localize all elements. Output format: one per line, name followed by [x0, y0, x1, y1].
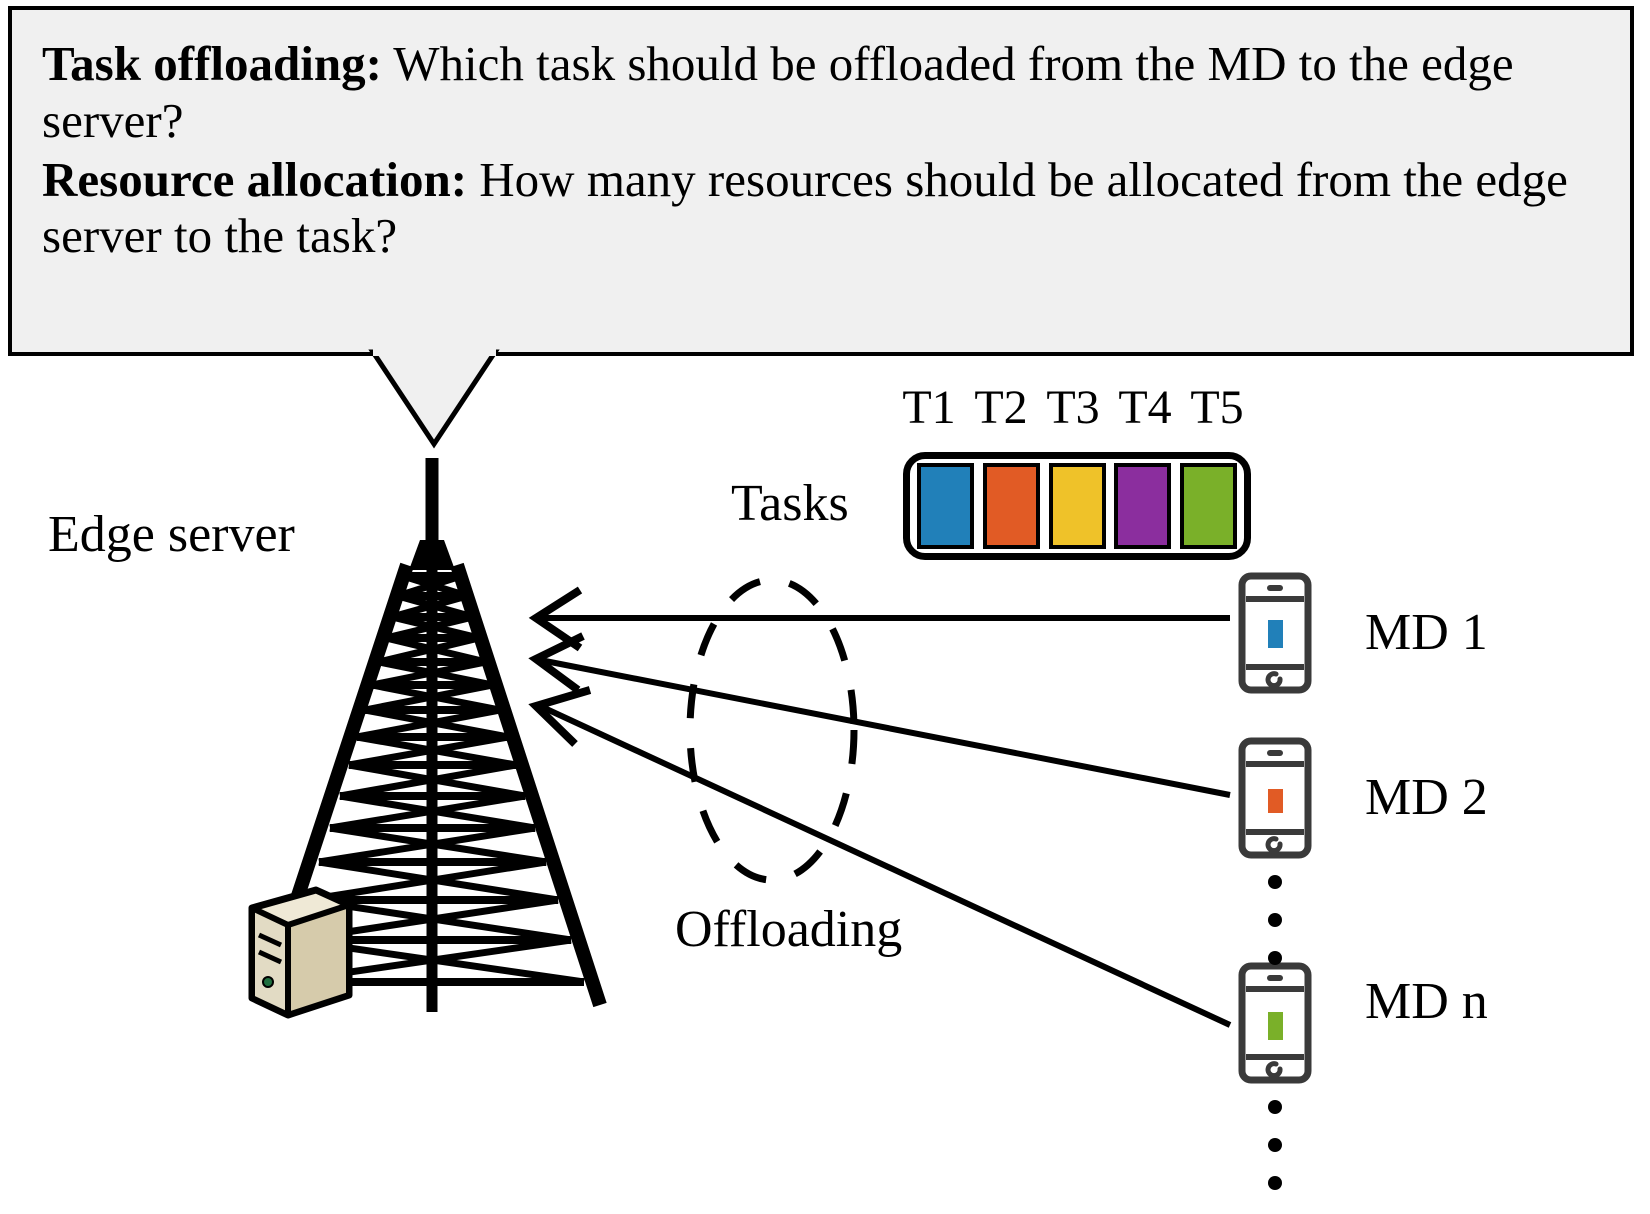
device-ellipsis-between	[1268, 875, 1282, 989]
task-cell-t1	[917, 463, 974, 549]
offload-arrow-md2	[536, 636, 1230, 795]
phone-speaker-slot	[1267, 750, 1283, 756]
task-cell-t2	[983, 463, 1040, 549]
offload-arrow-md1	[536, 590, 1230, 648]
device-label-md2: MD 2	[1365, 768, 1488, 827]
task-tag-t3: T3	[1037, 380, 1109, 435]
edge-server-label: Edge server	[48, 505, 295, 564]
phone-glyph	[1238, 572, 1312, 694]
diagram-canvas: Task offloading: Which task should be of…	[0, 0, 1650, 1175]
device-label-md1: MD 1	[1365, 603, 1488, 662]
offloading-arrows	[536, 590, 1230, 1025]
tasks-label: Tasks	[731, 474, 849, 533]
task-tag-t1: T1	[893, 380, 965, 435]
callout-tail	[373, 344, 496, 444]
phone-glyph	[1238, 737, 1312, 859]
phone-screen-task-swatch	[1268, 620, 1283, 648]
phone-screen-task-swatch	[1268, 789, 1283, 813]
device-label-mdn: MD n	[1365, 972, 1488, 1031]
offloading-region-ellipse	[690, 580, 854, 880]
task-cell-t4	[1114, 463, 1171, 549]
server-power-led	[263, 977, 273, 987]
task-cell-t3	[1049, 463, 1106, 549]
phone-screen-task-swatch	[1268, 1012, 1283, 1040]
offloading-label: Offloading	[675, 900, 902, 959]
task-tag-t2: T2	[965, 380, 1037, 435]
mobile-device-icon-md2	[1238, 737, 1312, 859]
device-ellipsis-below	[1268, 1100, 1282, 1214]
task-tag-t5: T5	[1181, 380, 1253, 435]
edge-server-pc-icon	[252, 890, 349, 1015]
phone-speaker-slot	[1267, 585, 1283, 591]
task-tag-row: T1 T2 T3 T4 T5	[893, 380, 1253, 435]
task-tag-t4: T4	[1109, 380, 1181, 435]
offload-arrow-mdn	[536, 690, 1230, 1025]
task-queue	[903, 452, 1251, 560]
task-cell-t5	[1180, 463, 1237, 549]
mobile-device-icon-md1	[1238, 572, 1312, 694]
